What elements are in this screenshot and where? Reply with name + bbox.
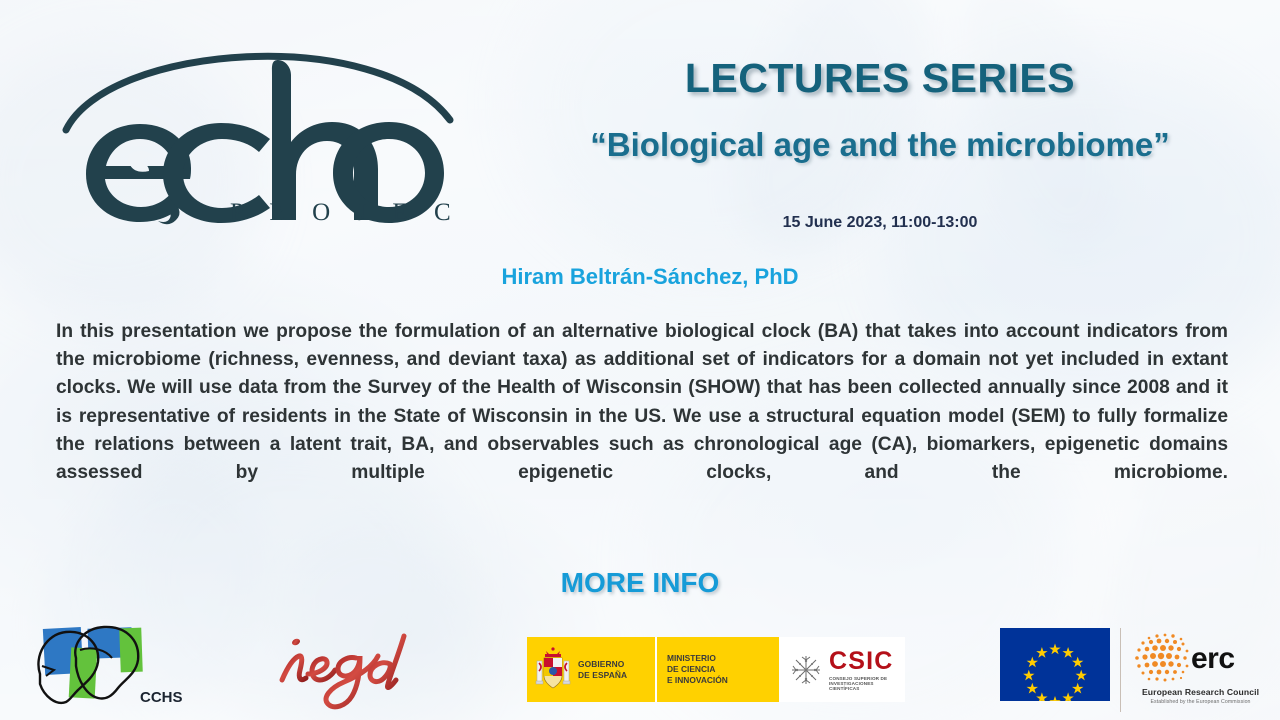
ministerio-line1: MINISTERIO [667,653,728,664]
footer-logo-bar: CCHS [0,612,1280,720]
talk-title: “Biological age and the microbiome” [500,126,1260,164]
erc-letters-text: erc [1191,642,1235,675]
cchs-logo: CCHS [22,622,197,714]
csic-snowflake-icon [789,653,823,687]
more-info-label[interactable]: MORE INFO [440,567,840,599]
ministerio-block: MINISTERIO DE CIENCIA E INNOVACIÓN [655,637,779,702]
european-union-flag-icon [1000,628,1110,701]
erc-logo: erc European Research Council Establishe… [1133,628,1268,705]
ministerio-line2: DE CIENCIA [667,664,728,675]
gobierno-de-espana-text: GOBIERNO DE ESPAÑA [578,659,627,681]
event-datetime: 15 June 2023, 11:00-13:00 [500,214,1260,232]
gobierno-csic-logo: GOBIERNO DE ESPAÑA MINISTERIO DE CIENCIA… [527,637,905,702]
iegd-logo [272,628,422,714]
erc-full-name: European Research Council [1142,687,1259,697]
erc-established-note: Established by the European Commission [1150,699,1250,705]
gobierno-line2: DE ESPAÑA [578,670,627,681]
logo-divider [1120,628,1121,712]
echo-project-logo: P R O J E C T [48,22,468,232]
csic-subtitle: CONSEJO SUPERIOR DE INVESTIGACIONES CIEN… [829,676,905,691]
csic-wordmark: CSIC [829,649,905,674]
gobierno-de-espana-block: GOBIERNO DE ESPAÑA [527,637,655,702]
logo-subtitle-text: P R O J E C T [230,199,468,226]
lectures-series-title: LECTURES SERIES [500,55,1260,102]
ministerio-line3: E INNOVACIÓN [667,675,728,686]
cchs-label-text: CCHS [140,689,183,706]
abstract-text: In this presentation we propose the form… [56,318,1228,516]
erc-wordmark-icon: erc [1133,630,1268,686]
spain-coat-of-arms-icon [533,645,573,695]
csic-block: CSIC CONSEJO SUPERIOR DE INVESTIGACIONES… [779,637,905,702]
gobierno-line1: GOBIERNO [578,659,627,670]
eu-erc-logo-group: erc European Research Council Establishe… [1000,628,1268,712]
speaker-name: Hiram Beltrán-Sánchez, PhD [300,264,1000,290]
